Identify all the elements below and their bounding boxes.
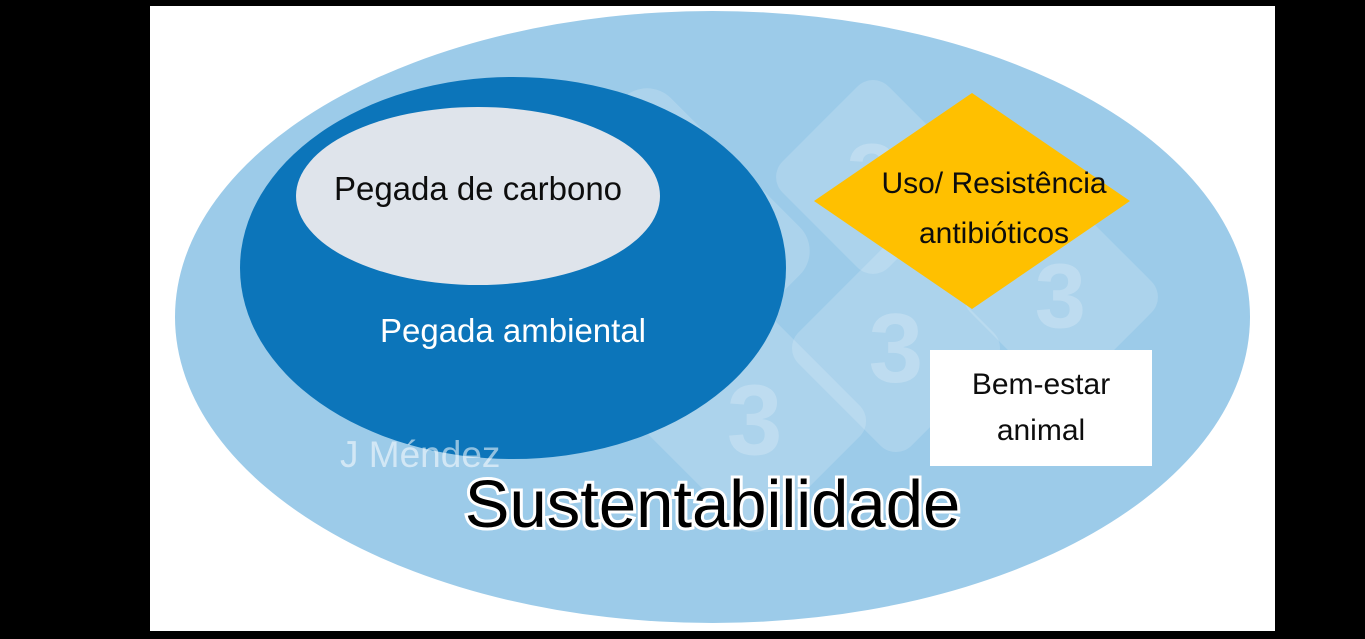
diamond-label-line2: antibióticos xyxy=(830,209,1158,259)
page-title: Sustentabilidade xyxy=(150,466,1275,543)
diamond-label: Uso/ Resistência antibióticos xyxy=(830,159,1158,258)
mid-ellipse-label: Pegada ambiental xyxy=(240,312,786,350)
box-animal-welfare: Bem-estar animal xyxy=(930,350,1152,466)
diamond-antibiotics: Uso/ Resistência antibióticos xyxy=(814,93,1130,309)
slide-viewer: 3 3 3 3 3 Pegada de carbono Pegada ambie… xyxy=(0,0,1365,639)
slide-canvas: 3 3 3 3 3 Pegada de carbono Pegada ambie… xyxy=(150,6,1275,631)
letterbox-left xyxy=(0,0,150,639)
letterbox-right xyxy=(1275,0,1365,639)
letterbox-bottom xyxy=(0,631,1365,639)
box-label-line2: animal xyxy=(972,408,1110,455)
diamond-label-line1: Uso/ Resistência xyxy=(830,159,1158,209)
inner-ellipse-label: Pegada de carbono xyxy=(296,170,660,208)
box-animal-welfare-label: Bem-estar animal xyxy=(972,362,1110,455)
letterbox-top xyxy=(0,0,1365,6)
box-label-line1: Bem-estar xyxy=(972,362,1110,409)
